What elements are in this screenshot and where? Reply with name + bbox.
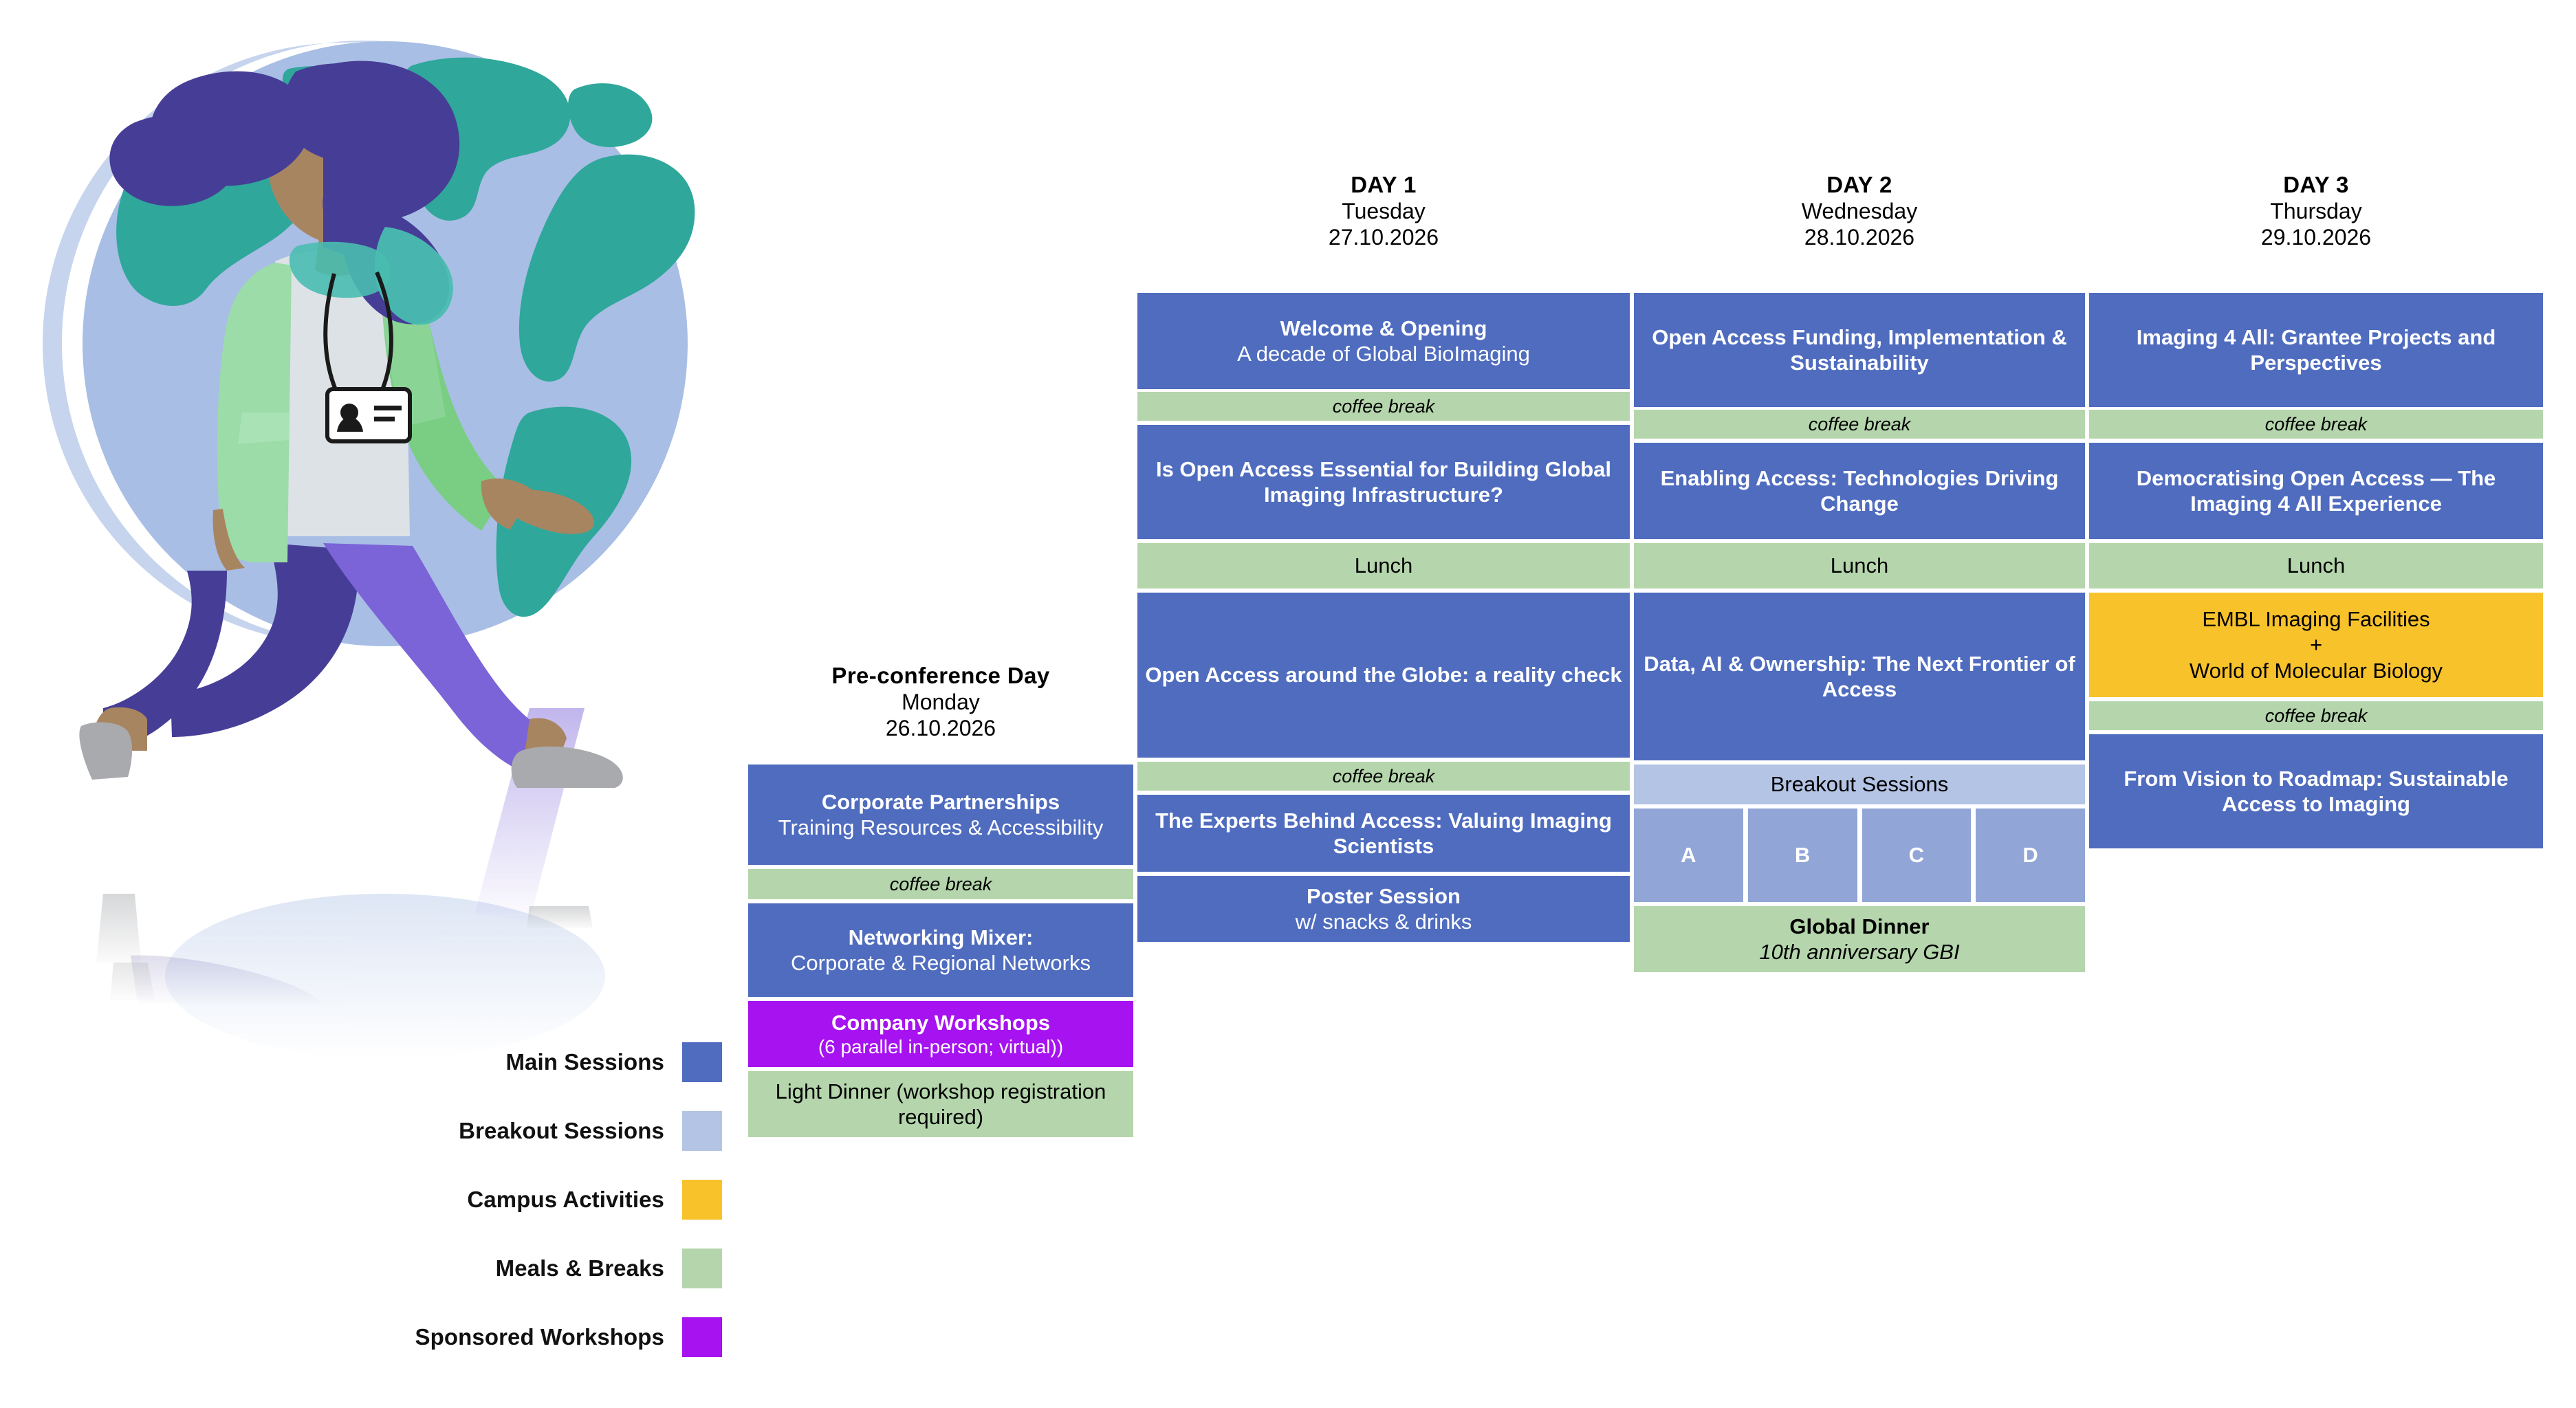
meal-block-lunch-day-3[interactable]: Lunch [2089, 543, 2543, 588]
session-title: Data, AI & Ownership: The Next Frontier … [1641, 651, 2078, 702]
session-title: Networking Mixer: [849, 925, 1034, 950]
campus-block-embl-imaging-facilities[interactable]: EMBL Imaging Facilities + World of Molec… [2089, 593, 2543, 697]
day-weekday: Tuesday [1137, 199, 1630, 225]
session-block-the-experts-behind-access[interactable]: The Experts Behind Access: Valuing Imagi… [1137, 795, 1630, 872]
campus-subtitle: World of Molecular Biology [2190, 658, 2443, 683]
day-weekday: Wednesday [1634, 199, 2085, 225]
session-title: Enabling Access: Technologies Driving Ch… [1641, 465, 2078, 516]
session-title: Poster Session [1307, 883, 1461, 909]
break-label: coffee break [1809, 413, 1911, 435]
break-block-coffee-break[interactable]: coffee break [748, 869, 1133, 899]
day-date: 29.10.2026 [2089, 225, 2543, 251]
session-block-from-vision-to-roadmap[interactable]: From Vision to Roadmap: Sustainable Acce… [2089, 734, 2543, 848]
meal-subtitle: 10th anniversary GBI [1759, 939, 1959, 965]
column-header-preconference: Pre-conference Day Monday 26.10.2026 [748, 663, 1133, 740]
campus-separator: + [2310, 632, 2322, 657]
session-block-data-ai-ownership[interactable]: Data, AI & Ownership: The Next Frontier … [1634, 593, 2085, 760]
campus-title: EMBL Imaging Facilities [2202, 606, 2430, 632]
break-label: coffee break [1333, 395, 1435, 417]
breakout-sessions-strip: A B C D [1634, 808, 2085, 902]
session-block-imaging-4-all-grantee[interactable]: Imaging 4 All: Grantee Projects and Pers… [2089, 293, 2543, 407]
schedule-infographic: Main Sessions Breakout Sessions Campus A… [0, 0, 2576, 1408]
session-title: Imaging 4 All: Grantee Projects and Pers… [2096, 324, 2536, 375]
meal-block-light-dinner[interactable]: Light Dinner (workshop registration requ… [748, 1071, 1133, 1137]
breakout-cell-label: D [2022, 843, 2038, 868]
breakout-cell-label: C [1909, 843, 1924, 868]
session-title: Is Open Access Essential for Building Gl… [1144, 456, 1623, 507]
session-title: Company Workshops [831, 1010, 1050, 1035]
break-label: coffee break [890, 873, 992, 895]
schedule-grid: Pre-conference Day Monday 26.10.2026 Cor… [0, 0, 2576, 1408]
meal-block-lunch-day-2[interactable]: Lunch [1634, 543, 2085, 588]
session-title: From Vision to Roadmap: Sustainable Acce… [2096, 766, 2536, 817]
day-date: 27.10.2026 [1137, 225, 1630, 251]
day-number: DAY 2 [1634, 172, 2085, 199]
column-header-day-3: DAY 3 Thursday 29.10.2026 [2089, 172, 2543, 253]
session-block-corporate-partnerships[interactable]: Corporate Partnerships Training Resource… [748, 764, 1133, 865]
meal-title: Global Dinner [1789, 914, 1929, 939]
session-block-networking-mixer[interactable]: Networking Mixer: Corporate & Regional N… [748, 903, 1133, 997]
column-header-day-1: DAY 1 Tuesday 27.10.2026 [1137, 172, 1630, 253]
session-title: Democratising Open Access — The Imaging … [2096, 465, 2536, 516]
breakout-cell-d[interactable]: D [1976, 808, 2085, 902]
session-title: Welcome & Opening [1280, 316, 1487, 341]
session-subtitle: Training Resources & Accessibility [778, 815, 1104, 840]
meal-block-lunch-day-1[interactable]: Lunch [1137, 543, 1630, 588]
session-subtitle: (6 parallel in-person; virtual)) [818, 1035, 1063, 1059]
session-block-company-workshops[interactable]: Company Workshops (6 parallel in-person;… [748, 1001, 1133, 1067]
breakout-cell-label: B [1795, 843, 1810, 868]
column-header-day-2: DAY 2 Wednesday 28.10.2026 [1634, 172, 2085, 253]
session-subtitle: A decade of Global BioImaging [1237, 341, 1530, 366]
column-day-1: DAY 1 Tuesday 27.10.2026 Welcome & Openi… [1137, 172, 1630, 1389]
break-label: coffee break [1333, 765, 1435, 787]
breakout-cell-a[interactable]: A [1634, 808, 1743, 902]
session-title: Corporate Partnerships [822, 789, 1060, 815]
session-subtitle: Corporate & Regional Networks [791, 950, 1091, 976]
break-block-coffee-break-1[interactable]: coffee break [2089, 410, 2543, 439]
break-block-coffee-break-1[interactable]: coffee break [1137, 392, 1630, 421]
breakout-header-label: Breakout Sessions [1771, 771, 1948, 797]
meal-label: Lunch [1355, 553, 1412, 578]
column-day-3: DAY 3 Thursday 29.10.2026 Imaging 4 All:… [2089, 172, 2543, 1389]
column-day-2: DAY 2 Wednesday 28.10.2026 Open Access F… [1634, 172, 2085, 1389]
day-weekday: Thursday [2089, 199, 2543, 225]
day-number: DAY 1 [1137, 172, 1630, 199]
session-title: The Experts Behind Access: Valuing Imagi… [1144, 808, 1623, 859]
day-date: 26.10.2026 [748, 716, 1133, 742]
meal-label: Lunch [1831, 553, 1888, 578]
session-block-democratising-open-access[interactable]: Democratising Open Access — The Imaging … [2089, 443, 2543, 539]
session-block-enabling-access[interactable]: Enabling Access: Technologies Driving Ch… [1634, 443, 2085, 539]
break-block-coffee-break-2[interactable]: coffee break [2089, 701, 2543, 730]
session-subtitle: w/ snacks & drinks [1296, 909, 1472, 934]
session-title: Open Access Funding, Implementation & Su… [1641, 324, 2078, 375]
breakout-cell-c[interactable]: C [1862, 808, 1972, 902]
breakout-cell-b[interactable]: B [1748, 808, 1857, 902]
day-number: DAY 3 [2089, 172, 2543, 199]
break-label: coffee break [2265, 705, 2368, 727]
meal-block-global-dinner[interactable]: Global Dinner 10th anniversary GBI [1634, 906, 2085, 972]
day-date: 28.10.2026 [1634, 225, 2085, 251]
day-number: Pre-conference Day [748, 663, 1133, 690]
meal-label: Lunch [2287, 553, 2345, 578]
day-weekday: Monday [748, 690, 1133, 716]
session-block-welcome-opening[interactable]: Welcome & Opening A decade of Global Bio… [1137, 293, 1630, 389]
session-block-open-access-funding[interactable]: Open Access Funding, Implementation & Su… [1634, 293, 2085, 407]
session-block-poster-session[interactable]: Poster Session w/ snacks & drinks [1137, 876, 1630, 942]
session-title: Open Access around the Globe: a reality … [1145, 662, 1622, 687]
column-preconference: Pre-conference Day Monday 26.10.2026 Cor… [748, 663, 1133, 1389]
breakout-sessions-header[interactable]: Breakout Sessions [1634, 764, 2085, 804]
session-block-open-access-around-the-globe[interactable]: Open Access around the Globe: a reality … [1137, 593, 1630, 758]
breakout-cell-label: A [1681, 843, 1696, 868]
break-label: coffee break [2265, 413, 2368, 435]
break-block-coffee-break-2[interactable]: coffee break [1137, 762, 1630, 791]
break-block-coffee-break-1[interactable]: coffee break [1634, 410, 2085, 439]
meal-label: Light Dinner (workshop registration requ… [755, 1079, 1126, 1130]
session-block-is-open-access-essential[interactable]: Is Open Access Essential for Building Gl… [1137, 425, 1630, 539]
